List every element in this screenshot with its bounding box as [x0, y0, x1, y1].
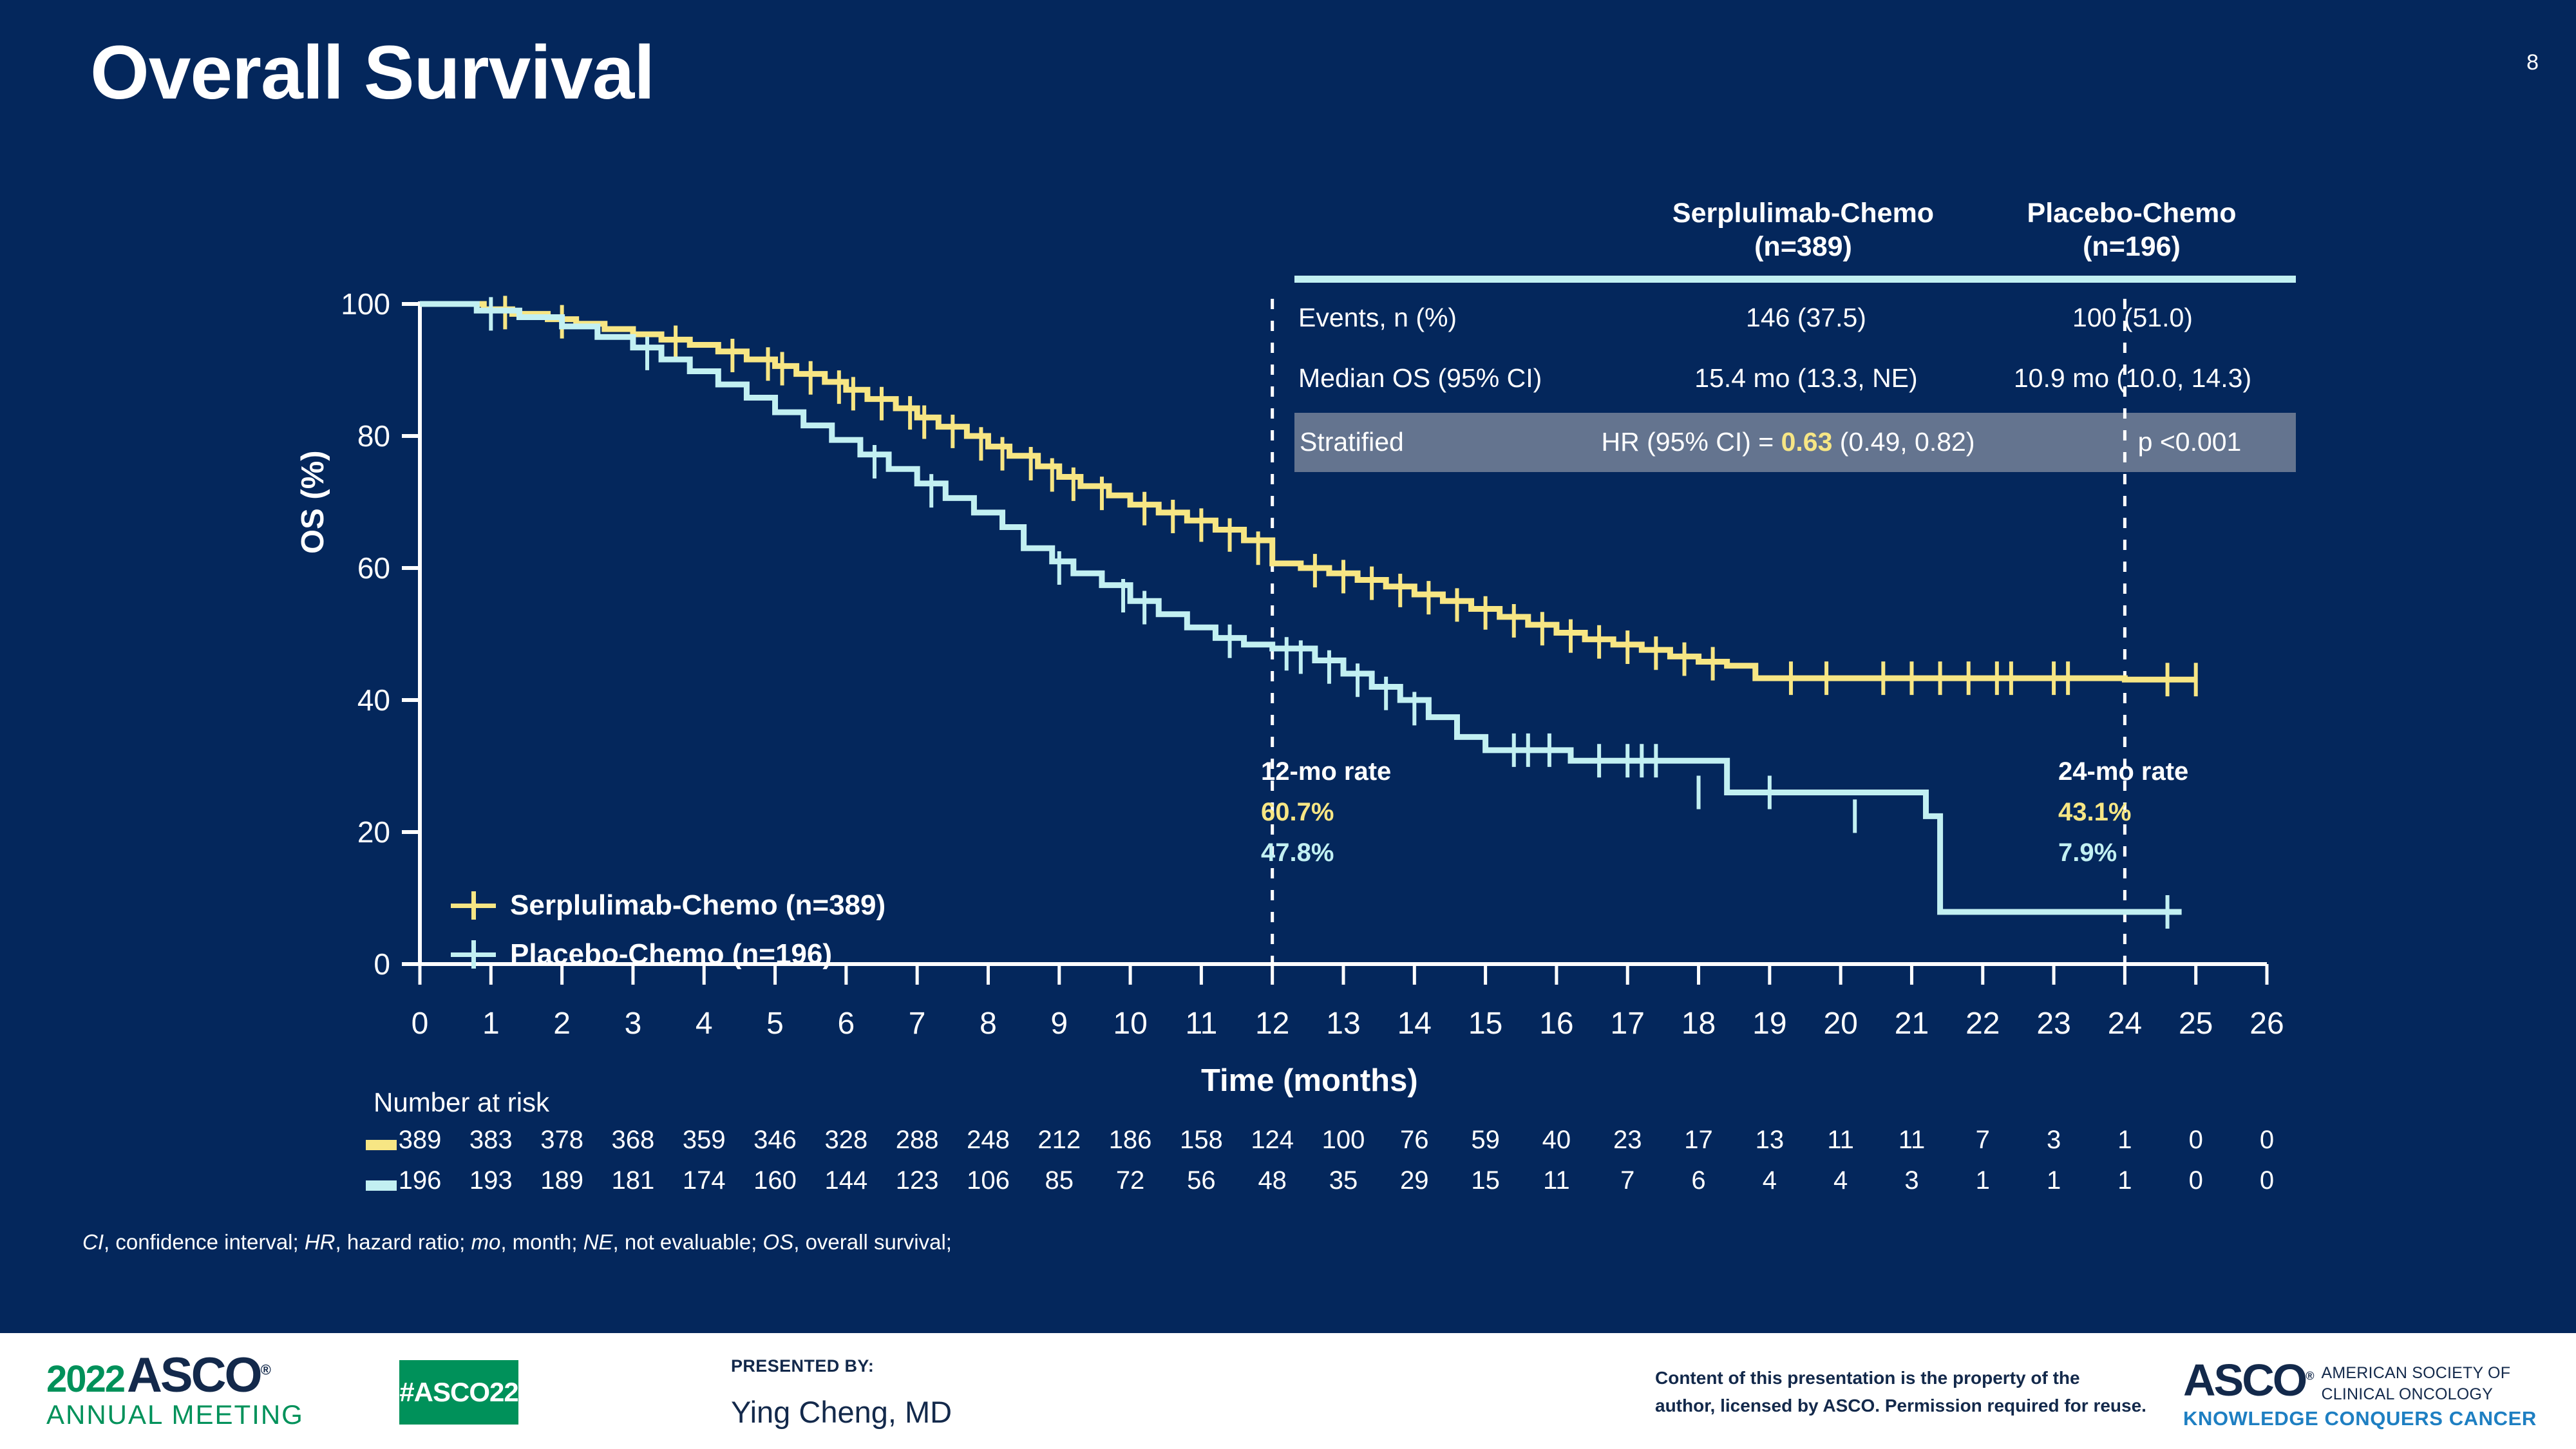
risk-value: 106: [952, 1166, 1023, 1195]
x-axis-tick-label: 6: [837, 1007, 855, 1041]
table-header-rule: [1294, 276, 2296, 283]
risk-value: 7: [1947, 1126, 2018, 1155]
abbreviation-definition: , not evaluable;: [613, 1230, 763, 1254]
hr-prefix: HR (95% CI) =: [1602, 427, 1781, 457]
annotation-12mo-serplulimab: 60.7%: [1261, 792, 1391, 833]
y-axis-tick-label: 40: [357, 683, 390, 717]
annotation-24mo-title: 24-mo rate: [2058, 752, 2188, 792]
risk-value: 72: [1095, 1166, 1166, 1195]
table-header-serplulimab: Serplulimab-Chemo (n=389): [1639, 196, 1967, 264]
risk-value: 3: [1876, 1166, 1947, 1195]
slide-canvas: Overall Survival 8 Serplulimab-Chemo (n=…: [0, 0, 2576, 1449]
risk-value: 17: [1663, 1126, 1734, 1155]
x-axis-tick-label: 19: [1752, 1007, 1786, 1041]
statistics-table: Serplulimab-Chemo (n=389) Placebo-Chemo …: [1294, 196, 2296, 472]
x-axis-tick-label: 14: [1397, 1007, 1432, 1041]
risk-value: 181: [598, 1166, 668, 1195]
risk-value: 212: [1024, 1126, 1095, 1155]
x-axis-tick-label: 21: [1895, 1007, 1929, 1041]
y-axis-tick-label: 0: [374, 947, 390, 981]
risk-value: 189: [527, 1166, 598, 1195]
risk-value: 1: [2089, 1166, 2160, 1195]
slide-number: 8: [2526, 50, 2539, 75]
logo-annual-meeting: ANNUAL MEETING: [46, 1399, 343, 1430]
society-name-line-1: AMERICAN SOCIETY OF: [2322, 1363, 2511, 1384]
risk-value: 35: [1308, 1166, 1379, 1195]
number-at-risk-table: 3893833783683593463282882482121861581241…: [366, 1126, 2233, 1207]
risk-value: 288: [882, 1126, 952, 1155]
risk-table-title: Number at risk: [374, 1087, 549, 1118]
abbreviation-definition: , overall survival;: [793, 1230, 952, 1254]
legend-label-serplulimab: Serplulimab-Chemo (n=389): [510, 889, 885, 922]
risk-value: 1: [2018, 1166, 2089, 1195]
abbreviation-definition: , hazard ratio;: [336, 1230, 471, 1254]
abbreviation-definition: , confidence interval;: [104, 1230, 305, 1254]
risk-value: 378: [527, 1126, 598, 1155]
risk-value: 13: [1734, 1126, 1805, 1155]
risk-value: 193: [455, 1166, 526, 1195]
x-axis-tick-label: 22: [1965, 1007, 2000, 1041]
risk-value: 11: [1521, 1166, 1592, 1195]
hr-ci: (0.49, 0.82): [1832, 427, 1975, 457]
risk-value: 11: [1805, 1126, 1876, 1155]
annotation-12mo-rate: 12-mo rate 60.7% 47.8%: [1261, 752, 1391, 874]
x-axis-tick-label: 4: [696, 1007, 713, 1041]
risk-value: 186: [1095, 1126, 1166, 1155]
x-axis-tick-label: 11: [1185, 1007, 1217, 1041]
risk-value: 346: [740, 1126, 811, 1155]
abbreviation-term: CI: [82, 1230, 104, 1254]
logo-year: 2022: [46, 1358, 124, 1401]
events-placebo: 100 (51.0): [1969, 303, 2296, 333]
risk-value: 196: [384, 1166, 455, 1195]
society-wordmark: ASCO®: [2183, 1359, 2313, 1402]
abbreviation-term: OS: [763, 1230, 794, 1254]
x-axis-tick-label: 24: [2108, 1007, 2142, 1041]
x-axis-tick-label: 15: [1468, 1007, 1502, 1041]
risk-value: 85: [1024, 1166, 1095, 1195]
risk-value: 100: [1308, 1126, 1379, 1155]
copyright-note: Content of this presentation is the prop…: [1655, 1364, 2151, 1420]
y-axis-tick-label: 20: [357, 815, 390, 849]
risk-value: 15: [1450, 1166, 1521, 1195]
risk-value: 0: [2231, 1166, 2302, 1195]
risk-value: 29: [1379, 1166, 1450, 1195]
risk-value: 4: [1734, 1166, 1805, 1195]
society-name-line-2: CLINICAL ONCOLOGY: [2322, 1384, 2511, 1405]
stratified-label: Stratified: [1294, 427, 1493, 457]
page-title: Overall Survival: [90, 33, 654, 113]
slide-footer: 2022 ASCO® ANNUAL MEETING #ASCO22 PRESEN…: [0, 1333, 2576, 1449]
risk-value: 160: [740, 1166, 811, 1195]
abbreviation-term: mo: [471, 1230, 500, 1254]
hr-value: 0.63: [1781, 427, 1833, 457]
x-axis-tick-label: 20: [1823, 1007, 1857, 1041]
x-axis-tick-label: 10: [1113, 1007, 1147, 1041]
stratified-analysis-row: Stratified HR (95% CI) = 0.63 (0.49, 0.8…: [1294, 413, 2296, 472]
chart-legend: Serplulimab-Chemo (n=389) Placebo-Chemo …: [451, 881, 885, 979]
registered-mark-icon: ®: [2306, 1370, 2312, 1383]
risk-value: 7: [1592, 1166, 1663, 1195]
annotation-24mo-placebo: 7.9%: [2058, 833, 2188, 873]
legend-label-placebo: Placebo-Chemo (n=196): [510, 938, 832, 971]
x-axis-tick-label: 13: [1326, 1007, 1360, 1041]
annotation-12mo-placebo: 47.8%: [1261, 833, 1391, 873]
risk-value: 3: [2018, 1126, 2089, 1155]
society-tagline: KNOWLEDGE CONQUERS CANCER: [2183, 1407, 2544, 1430]
risk-value: 1: [2089, 1126, 2160, 1155]
risk-value: 6: [1663, 1166, 1734, 1195]
x-axis-tick-label: 26: [2249, 1007, 2284, 1041]
x-axis-tick-label: 8: [980, 1007, 997, 1041]
risk-value: 389: [384, 1126, 455, 1155]
y-axis-tick-label: 80: [357, 419, 390, 453]
x-axis-tick-label: 16: [1539, 1007, 1573, 1041]
hazard-ratio-statement: HR (95% CI) = 0.63 (0.49, 0.82): [1493, 427, 2083, 457]
risk-value: 359: [668, 1126, 739, 1155]
risk-value: 48: [1237, 1166, 1308, 1195]
legend-item-placebo: Placebo-Chemo (n=196): [451, 930, 885, 979]
x-axis-tick-label: 17: [1611, 1007, 1645, 1041]
risk-value: 123: [882, 1166, 952, 1195]
annotation-12mo-title: 12-mo rate: [1261, 752, 1391, 792]
x-axis-tick-label: 1: [482, 1007, 500, 1041]
hashtag-badge: #ASCO22: [399, 1360, 518, 1425]
x-axis-tick-label: 5: [766, 1007, 784, 1041]
table-header-row: Serplulimab-Chemo (n=389) Placebo-Chemo …: [1294, 196, 2296, 264]
risk-row-placebo: 1961931891811741601441231068572564835291…: [366, 1166, 2233, 1207]
abbreviation-definition: , month;: [500, 1230, 583, 1254]
presented-by-label: PRESENTED BY:: [731, 1356, 952, 1376]
table-header-placebo: Placebo-Chemo (n=196): [1967, 196, 2296, 264]
x-axis-tick-label: 23: [2036, 1007, 2070, 1041]
x-axis-tick-label: 7: [909, 1007, 926, 1041]
legend-marker-icon: [451, 891, 496, 920]
risk-value: 23: [1592, 1126, 1663, 1155]
annotation-24mo-rate: 24-mo rate 43.1% 7.9%: [2058, 752, 2188, 874]
risk-value: 59: [1450, 1126, 1521, 1155]
y-axis-title: OS (%): [295, 450, 331, 554]
risk-value: 76: [1379, 1126, 1450, 1155]
risk-value: 383: [455, 1126, 526, 1155]
risk-value: 40: [1521, 1126, 1592, 1155]
y-axis-tick-label: 100: [341, 287, 390, 321]
risk-value: 56: [1166, 1166, 1236, 1195]
x-axis-title: Time (months): [1201, 1063, 1418, 1099]
x-axis-tick-label: 0: [412, 1007, 429, 1041]
risk-value: 248: [952, 1126, 1023, 1155]
row-label-median-os: Median OS (95% CI): [1294, 363, 1643, 393]
copyright-line-2: author, licensed by ASCO. Permission req…: [1655, 1392, 2151, 1419]
abbreviation-term: HR: [305, 1230, 336, 1254]
registered-mark-icon: ®: [261, 1362, 269, 1378]
row-label-events: Events, n (%): [1294, 303, 1643, 333]
annotation-24mo-serplulimab: 43.1%: [2058, 792, 2188, 833]
x-axis-tick-label: 12: [1255, 1007, 1289, 1041]
x-axis-tick-label: 18: [1681, 1007, 1716, 1041]
p-value: p <0.001: [2083, 427, 2296, 457]
events-serplulimab: 146 (37.5): [1643, 303, 1969, 333]
copyright-line-1: Content of this presentation is the prop…: [1655, 1364, 2151, 1392]
asco-society-logo: ASCO® AMERICAN SOCIETY OF CLINICAL ONCOL…: [2183, 1359, 2544, 1430]
risk-value: 1: [1947, 1166, 2018, 1195]
abbreviation-term: NE: [583, 1230, 613, 1254]
legend-item-serplulimab: Serplulimab-Chemo (n=389): [451, 881, 885, 930]
x-axis-tick-label: 25: [2179, 1007, 2213, 1041]
risk-value: 0: [2161, 1126, 2231, 1155]
legend-marker-icon: [451, 940, 496, 969]
x-axis-tick-label: 2: [553, 1007, 571, 1041]
risk-value: 144: [811, 1166, 882, 1195]
table-row: Events, n (%) 146 (37.5) 100 (51.0): [1294, 288, 2296, 348]
asco-annual-meeting-logo: 2022 ASCO® ANNUAL MEETING: [46, 1347, 343, 1437]
risk-value: 0: [2231, 1126, 2302, 1155]
presenter-name: Ying Cheng, MD: [731, 1394, 952, 1430]
logo-asco-wordmark: ASCO®: [127, 1347, 269, 1403]
risk-value: 158: [1166, 1126, 1236, 1155]
risk-value: 174: [668, 1166, 739, 1195]
table-row: Median OS (95% CI) 15.4 mo (13.3, NE) 10…: [1294, 348, 2296, 409]
y-axis-tick-label: 60: [357, 551, 390, 585]
risk-value: 0: [2161, 1166, 2231, 1195]
risk-value: 124: [1237, 1126, 1308, 1155]
society-name: AMERICAN SOCIETY OF CLINICAL ONCOLOGY: [2322, 1363, 2511, 1405]
risk-value: 11: [1876, 1126, 1947, 1155]
abbreviations-footnote: CI, confidence interval; HR, hazard rati…: [82, 1230, 952, 1255]
median-os-placebo: 10.9 mo (10.0, 14.3): [1969, 363, 2296, 393]
risk-row-serplulimab: 3893833783683593463282882482121861581241…: [366, 1126, 2233, 1166]
x-axis-tick-label: 9: [1050, 1007, 1068, 1041]
presented-by-block: PRESENTED BY: Ying Cheng, MD: [731, 1356, 952, 1430]
x-axis-tick-label: 3: [625, 1007, 642, 1041]
risk-value: 4: [1805, 1166, 1876, 1195]
median-os-serplulimab: 15.4 mo (13.3, NE): [1643, 363, 1969, 393]
risk-value: 368: [598, 1126, 668, 1155]
risk-value: 328: [811, 1126, 882, 1155]
